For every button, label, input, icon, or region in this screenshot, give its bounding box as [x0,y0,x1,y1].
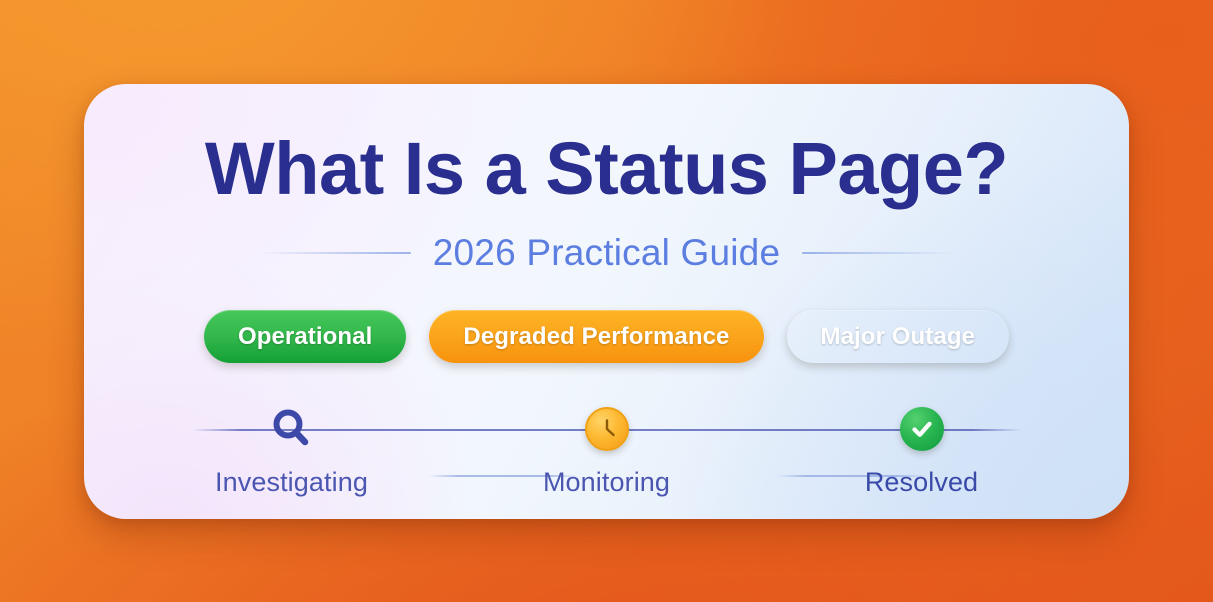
timeline-steps: Investigating Monitoring [192,399,1022,498]
status-badge-operational[interactable]: Operational [204,310,406,363]
timeline-step-label-monitoring: Monitoring [543,467,670,498]
status-badge-degraded-performance[interactable]: Degraded Performance [429,310,763,363]
status-page-card: What Is a Status Page? 2026 Practical Gu… [84,84,1129,519]
status-badge-group: Operational Degraded Performance Major O… [204,310,1009,363]
status-badge-major-outage[interactable]: Major Outage [787,310,1010,363]
timeline-step-investigating[interactable]: Investigating [192,399,392,498]
page-subtitle: 2026 Practical Guide [433,232,780,274]
subtitle-rule-left [259,252,411,254]
timeline-step-resolved[interactable]: Resolved [822,399,1022,498]
subtitle-row: 2026 Practical Guide [84,232,1129,274]
timeline-step-monitoring[interactable]: Monitoring [507,399,707,498]
timeline-step-label-resolved: Resolved [865,467,978,498]
timeline-step-label-investigating: Investigating [215,467,368,498]
check-circle-icon [892,399,952,459]
page-title: What Is a Status Page? [205,132,1008,206]
poster-background: What Is a Status Page? 2026 Practical Gu… [0,0,1213,602]
subtitle-rule-right [802,252,954,254]
magnifier-icon [262,399,322,459]
clock-icon [577,399,637,459]
incident-timeline: Investigating Monitoring [192,399,1022,498]
